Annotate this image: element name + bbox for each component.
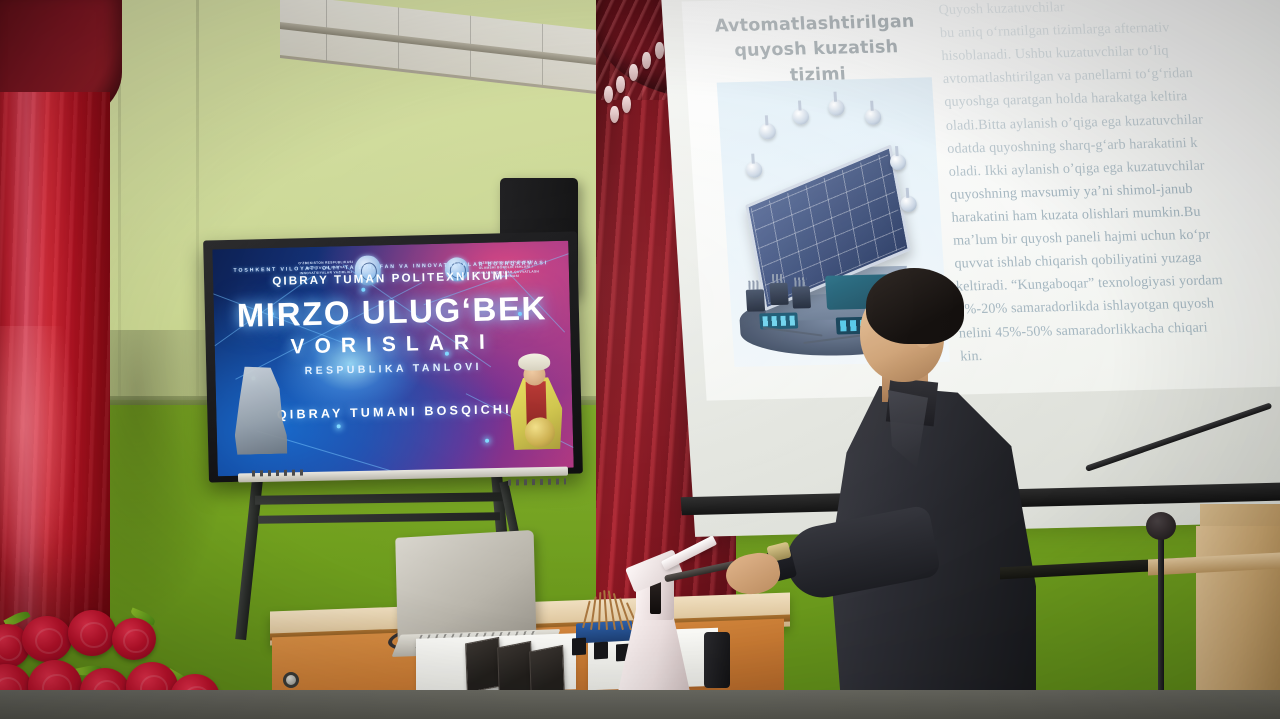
tv-control-buttons[interactable] <box>252 469 304 476</box>
solar-cell <box>497 641 533 697</box>
scholar-figure <box>503 351 567 450</box>
solar-cell <box>465 637 501 693</box>
curtain-highlight <box>0 326 76 576</box>
display-tv[interactable]: O‘ZBEKISTON RESPUBLIKASI OLIY TA'LIM, FA… <box>203 231 583 482</box>
floor <box>0 690 1280 719</box>
mic-stand-joint[interactable] <box>1146 512 1176 540</box>
presenter <box>830 268 1080 719</box>
curtain-left <box>0 0 122 636</box>
presenter-hair <box>866 268 964 344</box>
tv-bezel: O‘ZBEKISTON RESPUBLIKASI OLIY TA'LIM, FA… <box>203 231 583 482</box>
black-cylinder-object <box>704 632 730 688</box>
presentation-scene: Avtomatlashtirilgan quyosh kuzatish tizi… <box>0 0 1280 719</box>
stand-caster <box>283 672 299 688</box>
tv-main-title: MIRZO ULUG‘BEK <box>213 289 570 336</box>
electronic-module <box>572 638 586 656</box>
tv-screen[interactable]: O‘ZBEKISTON RESPUBLIKASI OLIY TA'LIM, FA… <box>212 241 573 477</box>
electronic-module <box>594 642 608 660</box>
laptop-lid[interactable] <box>395 530 536 642</box>
tv-port-panel[interactable] <box>508 478 566 485</box>
